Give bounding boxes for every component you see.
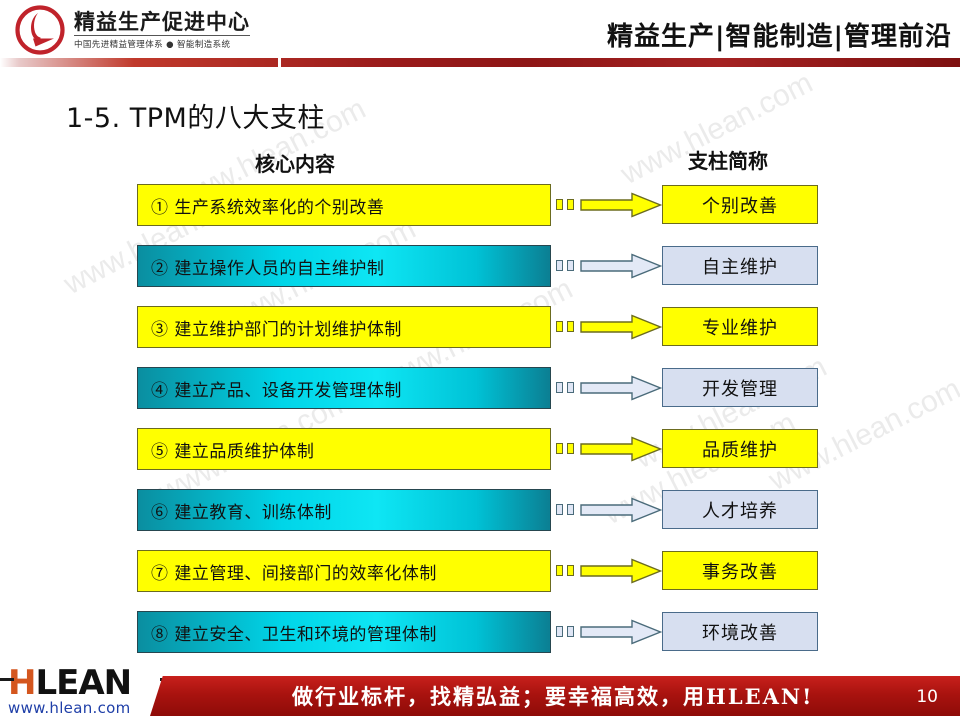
column-header-pillar-name: 支柱简称 — [688, 145, 768, 174]
connector-square — [567, 321, 574, 332]
pillar-row: ② 建立操作人员的自主维护制自主维护 — [0, 245, 960, 289]
arrow-right-icon — [580, 558, 662, 584]
pillar-name-box[interactable]: 个别改善 — [662, 185, 818, 224]
pillar-content-box[interactable]: ⑧ 建立安全、卫生和环境的管理体制 — [137, 611, 551, 653]
brand-name: 精益生产促进中心 — [74, 11, 250, 36]
pillar-row: ④ 建立产品、设备开发管理体制开发管理 — [0, 367, 960, 411]
page-number: 10 — [916, 687, 938, 707]
connector-square — [567, 199, 574, 210]
arrow-right-icon — [580, 436, 662, 462]
pillar-name-box[interactable]: 专业维护 — [662, 307, 818, 346]
connector-square — [556, 504, 563, 515]
arrow-right-icon — [580, 253, 662, 279]
lean-circle-logo-icon — [14, 4, 66, 56]
connector-square — [556, 382, 563, 393]
pillar-content-box[interactable]: ② 建立操作人员的自主维护制 — [137, 245, 551, 287]
connector-square — [567, 504, 574, 515]
arrow-right-icon — [580, 375, 662, 401]
connector-square — [567, 626, 574, 637]
arrow-right-icon — [580, 619, 662, 645]
pillar-row: ⑤ 建立品质维护体制品质维护 — [0, 428, 960, 472]
pillar-name-box[interactable]: 品质维护 — [662, 429, 818, 468]
pillar-row: ⑧ 建立安全、卫生和环境的管理体制环境改善 — [0, 611, 960, 655]
pillar-name-box[interactable]: 事务改善 — [662, 551, 818, 590]
pillar-content-box[interactable]: ⑤ 建立品质维护体制 — [137, 428, 551, 470]
logo-dash-left — [0, 678, 14, 681]
header-title: 精益生产|智能制造|管理前沿 — [607, 16, 952, 53]
connector-square — [567, 382, 574, 393]
pillar-name-box[interactable]: 开发管理 — [662, 368, 818, 407]
brand-logo: 精益生产促进中心 中国先进精益管理体系 ● 智能制造系统 — [14, 4, 284, 56]
slide-root: www.hlean.com www.hlean.com www.hlean.co… — [0, 0, 960, 720]
connector-square — [556, 321, 563, 332]
pillar-name-box[interactable]: 环境改善 — [662, 612, 818, 651]
pillar-content-box[interactable]: ③ 建立维护部门的计划维护体制 — [137, 306, 551, 348]
header-accent-bar — [0, 58, 960, 67]
connector-square — [556, 443, 563, 454]
pillar-content-box[interactable]: ⑥ 建立教育、训练体制 — [137, 489, 551, 531]
pillar-content-box[interactable]: ④ 建立产品、设备开发管理体制 — [137, 367, 551, 409]
connector-square — [556, 626, 563, 637]
pillar-content-box[interactable]: ⑦ 建立管理、间接部门的效率化体制 — [137, 550, 551, 592]
page-footer: HLEAN www.hlean.com 做行业标杆，找精弘益；要幸福高效，用HL… — [0, 662, 960, 720]
column-header-core-content: 核心内容 — [255, 148, 335, 177]
arrow-right-icon — [580, 192, 662, 218]
arrow-right-icon — [580, 497, 662, 523]
brand-tagline: 中国先进精益管理体系 ● 智能制造系统 — [74, 38, 250, 50]
footer-band: 做行业标杆，找精弘益；要幸福高效，用HLEAN! 10 — [163, 676, 960, 716]
pillar-row: ③ 建立维护部门的计划维护体制专业维护 — [0, 306, 960, 350]
hlean-wordmark-h: H — [8, 663, 35, 703]
connector-square — [556, 260, 563, 271]
page-header: 精益生产促进中心 中国先进精益管理体系 ● 智能制造系统 精益生产|智能制造|管… — [0, 0, 960, 62]
pillar-name-box[interactable]: 自主维护 — [662, 246, 818, 285]
pillar-name-box[interactable]: 人才培养 — [662, 490, 818, 529]
arrow-right-icon — [580, 314, 662, 340]
header-accent-bar-notch — [278, 58, 281, 67]
connector-square — [567, 260, 574, 271]
connector-square — [556, 199, 563, 210]
footer-slogan: 做行业标杆，找精弘益；要幸福高效，用HLEAN! — [292, 681, 813, 711]
connector-square — [567, 565, 574, 576]
connector-square — [567, 443, 574, 454]
pillar-row: ⑦ 建立管理、间接部门的效率化体制事务改善 — [0, 550, 960, 594]
hlean-wordmark-lean: LEAN — [35, 663, 131, 703]
pillar-content-box[interactable]: ① 生产系统效率化的个别改善 — [137, 184, 551, 226]
page-title: 1-5. TPM的八大支柱 — [66, 96, 325, 135]
pillar-row: ⑥ 建立教育、训练体制人才培养 — [0, 489, 960, 533]
brand-logo-text: 精益生产促进中心 中国先进精益管理体系 ● 智能制造系统 — [74, 11, 250, 50]
connector-square — [556, 565, 563, 576]
pillar-row: ① 生产系统效率化的个别改善个别改善 — [0, 184, 960, 228]
